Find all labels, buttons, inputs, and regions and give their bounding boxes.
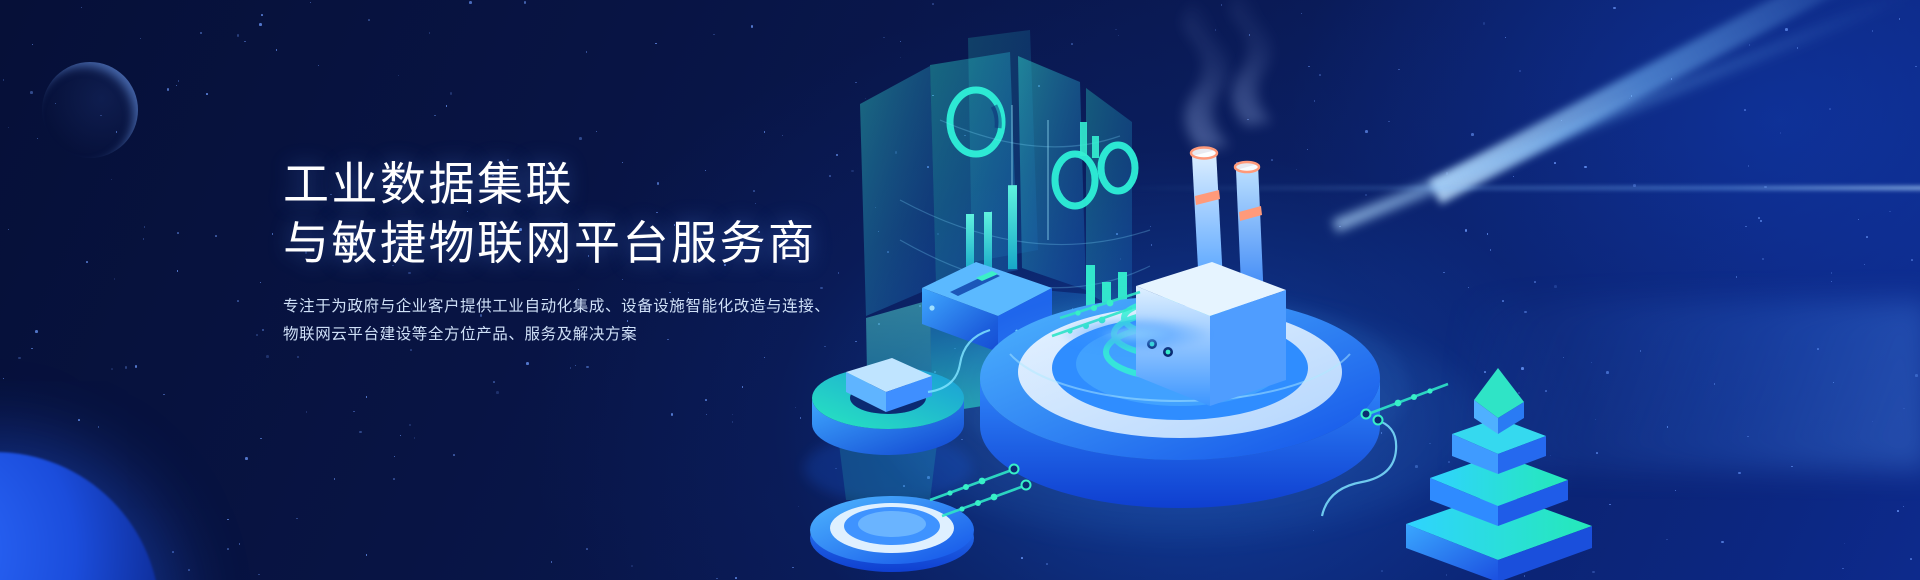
star-dot [306,411,308,413]
star-dot [1899,18,1901,20]
star-dot [1831,281,1833,283]
star-dot [178,80,180,82]
star-dot [111,368,113,370]
star-dot [172,551,174,553]
star-dot [353,411,355,413]
star-dot [262,329,265,332]
star-dot [1797,47,1799,49]
star-dot [751,25,754,28]
star-dot [1864,264,1866,266]
star-dot [1748,165,1750,167]
star-dot [188,569,190,571]
star-dot [409,424,412,427]
star-dot [245,457,248,460]
star-dot [1858,219,1860,221]
star-dot [125,366,128,369]
star-dot [37,138,39,140]
star-dot [1758,217,1760,219]
page-title-line-2: 与敏捷物联网平台服务商 [283,214,903,273]
star-dot [18,357,21,360]
star-dot [140,38,142,40]
star-dot [1903,506,1905,508]
illustration [780,0,1740,580]
star-dot [200,32,203,35]
star-dot [32,44,34,46]
star-dot [259,23,262,26]
star-dot [586,548,588,550]
star-dot [237,300,239,302]
hero-banner: 工业数据集联 与敏捷物联网平台服务商 专注于为政府与企业客户提供工业自动化集成、… [0,0,1920,580]
star-dot [366,554,368,556]
star-dot [586,366,589,369]
star-dot [764,131,766,133]
star-dot [244,41,246,43]
star-dot [260,438,262,440]
star-dot [1897,510,1899,512]
hero-subtitle-line-2: 物联网云平台建设等全方位产品、服务及解决方案 [283,321,903,350]
star-dot [256,334,258,336]
star-dot [272,233,274,235]
star-dot [266,355,269,358]
star-dot [393,478,395,480]
star-dot [177,232,179,234]
star-dot [706,414,708,416]
star-dot [742,386,744,388]
star-dot [631,565,633,567]
star-dot [260,282,262,284]
star-dot [705,399,707,401]
star-dot [176,85,178,87]
star-dot [177,270,179,272]
star-dot [496,391,499,394]
star-dot [429,32,431,34]
star-dot [98,426,100,428]
star-dot [596,131,598,133]
star-dot [493,381,495,383]
page-title-line-1: 工业数据集联 [283,155,903,214]
star-dot [1831,272,1833,274]
star-dot [3,378,5,380]
star-dot [586,51,588,53]
star-dot [764,357,766,359]
star-dot [579,137,582,140]
star-dot [400,435,402,437]
star-dot [144,226,146,228]
star-dot [81,7,83,9]
star-dot [1760,220,1763,223]
star-dot [135,365,138,368]
star-dot [318,65,320,67]
star-dot [310,2,312,4]
star-dot [1744,109,1746,111]
star-dot [1785,28,1788,31]
star-dot [237,34,240,37]
star-dot [31,348,33,350]
star-dot [143,238,145,240]
star-dot [366,396,368,398]
donut-chart-icon [804,358,974,572]
star-dot [446,105,448,107]
star-dot [469,1,472,4]
center-glow [1060,316,1210,352]
star-dot [1844,543,1846,545]
star-dot [434,115,436,117]
star-dot [414,437,416,439]
star-dot [1872,30,1874,32]
crescent-moon-icon [42,62,138,158]
star-dot [713,34,715,36]
star-dot [526,362,529,365]
hero-copy: 工业数据集联 与敏捷物联网平台服务商 专注于为政府与企业客户提供工业自动化集成、… [283,155,903,350]
star-dot [163,394,165,396]
star-dot [167,88,170,91]
star-dot [671,413,674,416]
star-dot [258,574,260,576]
star-dot [334,478,336,480]
star-dot [551,561,553,563]
star-dot [1762,258,1765,261]
isometric-scene-svg [780,0,1740,580]
star-dot [8,229,10,231]
star-dot [297,356,300,359]
star-dot [227,519,229,521]
star-dot [1866,236,1868,238]
star-dot [227,548,229,550]
star-dot [1745,226,1747,228]
star-dot [78,419,80,421]
hero-subtitle-line-1: 专注于为政府与企业客户提供工业自动化集成、设备设施智能化改造与连接、 [283,293,903,322]
star-dot [735,577,737,579]
star-dot [1889,211,1891,213]
star-dot [450,92,453,95]
star-dot [394,456,396,458]
star-dot [1780,132,1782,134]
star-dot [1911,259,1913,261]
star-dot [398,75,400,77]
star-dot [732,414,734,416]
star-dot [86,261,88,263]
star-dot [368,19,370,21]
star-dot [215,235,217,237]
star-dot [732,421,734,423]
star-dot [30,91,33,94]
star-dot [114,278,116,280]
star-dot [1915,66,1917,68]
star-dot [570,367,572,369]
star-dot [655,43,657,45]
star-dot [359,431,362,434]
star-dot [111,179,113,181]
star-dot [3,79,5,81]
star-dot [8,127,10,129]
star-dot [206,93,208,95]
star-dot [296,518,298,520]
star-dot [1842,568,1844,570]
star-dot [453,454,455,456]
star-dot [1829,108,1831,110]
star-dot [524,1,527,4]
star-dot [575,365,577,367]
star-dot [261,14,263,16]
star-dot [1749,44,1751,46]
star-dot [35,330,38,333]
star-dot [239,543,241,545]
star-dot [276,49,278,51]
star-dot [1910,558,1912,560]
star-dot [716,578,718,580]
